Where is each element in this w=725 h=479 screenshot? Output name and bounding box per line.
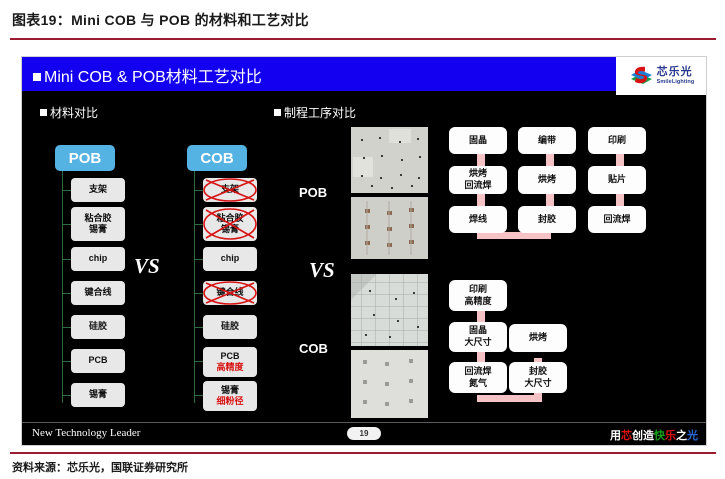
logo-mark-icon [628,64,654,88]
flow-connector [616,193,624,207]
material-item-line: 硅胶 [221,321,239,332]
photo-pob-bottom [351,197,428,259]
material-item-cob-5: PCB 高精度 [203,347,257,377]
logo-text: 芯乐光 SmileLighting [657,67,695,86]
flow-step-pob-6: 焊线 [449,206,507,233]
tree-tick [62,259,71,260]
slide-canvas: Mini COB & POB材料工艺对比 芯乐光 SmileLighting 材… [21,56,707,446]
tree-tick [194,327,203,328]
flow-connector [477,153,485,167]
square-bullet-icon [40,109,47,116]
material-item-line: 锡膏 [221,224,239,235]
material-item-line: 硅胶 [89,321,107,332]
material-item-line: 键合线 [216,287,243,298]
flow-connector [477,193,485,207]
tree-tick [194,259,203,260]
section-label-process: 制程工序对比 [274,104,356,121]
photo-label-cob: COB [299,341,328,356]
material-item-cob-1: 粘合胶 锡膏 [203,207,257,241]
flow-step-line: 大尺寸 [464,337,491,349]
tree-tick [62,224,71,225]
vs-label-process: VS [309,258,335,283]
flow-step-line: 固晶 [469,325,487,337]
flow-step-cob-1: 固晶 大尺寸 [449,322,507,352]
square-bullet-icon [33,73,41,81]
material-item-line: 锡膏 [221,385,239,396]
slide-header-title-wrap: Mini COB & POB材料工艺对比 [33,63,262,87]
vs-label-materials: VS [134,254,160,279]
logo-svg [628,64,654,88]
slogan-part: 芯 [621,430,632,442]
flow-step-line: 烘烤 [469,168,487,180]
tree-tick [194,361,203,362]
material-item-pob-4: 硅胶 [71,315,125,339]
flow-step-line: 贴片 [608,174,626,186]
flow-step-cob-3: 烘烤 [509,324,567,352]
flow-step-pob-5: 贴片 [588,166,646,194]
footer-tagline: New Technology Leader [32,427,140,439]
material-item-pob-2: chip [71,247,125,271]
brand-logo: 芯乐光 SmileLighting [616,57,706,95]
logo-name-en: SmileLighting [657,80,695,86]
material-item-line: 粘合胶 [216,213,243,224]
material-item-line: PCB [88,355,107,366]
page-number-badge: 19 [347,427,381,440]
slogan-part: 乐 [665,430,676,442]
material-item-cob-3: 键合线 [203,281,257,305]
section-label-process-text: 制程工序对比 [284,106,356,120]
flow-step-line: 编带 [538,135,556,147]
material-item-line: 锡膏 [89,224,107,235]
flow-step-line: 烘烤 [538,174,556,186]
material-item-cob-6: 锡膏 细粉径 [203,381,257,411]
tree-tick [194,293,203,294]
photo-cob-bottom-svg [351,350,428,418]
flow-step-line: 回流焊 [464,180,491,192]
material-item-line: chip [89,253,108,264]
material-item-line: 支架 [89,184,107,195]
photo-cob-top-svg [351,274,428,346]
tree-stem-pob [62,171,63,403]
slogan-part: 快 [654,430,665,442]
flow-step-line: 封胶 [538,214,556,226]
flow-step-line: 封胶 [529,366,547,378]
slogan-part: 创造 [632,430,654,442]
material-item-line: 粘合胶 [84,213,111,224]
flow-step-pob-3: 烘烤 回流焊 [449,166,507,194]
flow-connector [616,153,624,167]
photo-cob-bottom [351,350,428,418]
slide-header-title: Mini COB & POB材料工艺对比 [44,69,262,86]
photo-label-pob: POB [299,185,327,200]
photo-pob-top [351,127,428,193]
flow-connector [477,232,551,239]
material-item-pob-5: PCB [71,349,125,373]
tree-stem-cob [194,171,195,403]
flow-step-line: 氮气 [469,378,487,390]
photo-pob-top-svg [351,127,428,193]
flow-step-line: 印刷 [608,135,626,147]
material-item-cob-2: chip [203,247,257,271]
tree-tick [62,293,71,294]
flow-step-cob-2: 回流焊 氮气 [449,362,507,393]
material-item-pob-1: 粘合胶 锡膏 [71,207,125,241]
flow-step-pob-7: 封胶 [518,206,576,233]
flow-step-line: 高精度 [464,296,491,308]
flow-step-cob-0: 印刷 高精度 [449,280,507,311]
tree-tick [194,224,203,225]
material-item-pob-3: 键合线 [71,281,125,305]
flow-step-cob-4: 封胶 大尺寸 [509,362,567,393]
material-item-cob-4: 硅胶 [203,315,257,339]
flow-step-line: 回流焊 [464,366,491,378]
tree-tick [194,395,203,396]
flow-step-line: 固晶 [469,135,487,147]
slogan-part: 之 [676,430,687,442]
photo-cob-top [351,274,428,346]
material-item-line: 支架 [221,184,239,195]
flow-step-line: 烘烤 [529,332,547,344]
tree-tick [62,395,71,396]
material-header-cob: COB [187,145,247,171]
flow-step-line: 印刷 [469,284,487,296]
source-note: 资料来源：芯乐光，国联证券研究所 [12,459,188,475]
tree-tick [62,190,71,191]
flow-step-pob-4: 烘烤 [518,166,576,194]
flow-step-pob-8: 回流焊 [588,206,646,233]
slide-footer-bar: New Technology Leader 19 用芯创造快乐之光 [22,422,706,445]
material-item-line: chip [221,253,240,264]
flow-connector [546,193,554,207]
flow-step-pob-2: 印刷 [588,127,646,154]
flow-step-line: 大尺寸 [524,378,551,390]
tree-tick [62,361,71,362]
divider-bottom [10,452,716,454]
divider-top [10,38,716,40]
material-item-note: 细粉径 [216,396,243,407]
photo-pob-bottom-svg [351,197,428,259]
square-bullet-icon [274,109,281,116]
material-item-cob-0: 支架 [203,178,257,202]
material-header-pob: POB [55,145,115,171]
slide-header-bar: Mini COB & POB材料工艺对比 [22,57,616,91]
material-item-line: 锡膏 [89,389,107,400]
material-item-pob-0: 支架 [71,178,125,202]
flow-step-line: 焊线 [469,214,487,226]
flow-step-pob-0: 固晶 [449,127,507,154]
page-title: 图表19：Mini COB 与 POB 的材料和工艺对比 [12,10,309,30]
tree-tick [194,190,203,191]
flow-connector [546,153,554,167]
flow-connector [477,395,541,402]
flow-step-line: 回流焊 [603,214,630,226]
material-item-line: PCB [220,351,239,362]
material-item-note: 高精度 [216,362,243,373]
slogan-part: 用 [610,430,621,442]
section-label-materials-text: 材料对比 [50,106,98,120]
flow-step-pob-1: 编带 [518,127,576,154]
section-label-materials: 材料对比 [40,104,98,121]
material-item-line: 键合线 [84,287,111,298]
slogan-part: 光 [687,430,698,442]
material-item-pob-6: 锡膏 [71,383,125,407]
tree-tick [62,327,71,328]
logo-name-cn: 芯乐光 [657,67,695,78]
footer-slogan: 用芯创造快乐之光 [610,427,698,443]
